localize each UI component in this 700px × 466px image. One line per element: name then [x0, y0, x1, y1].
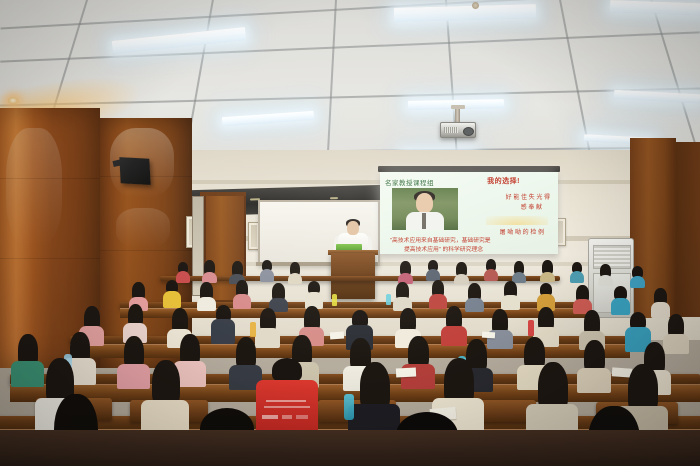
water-bottle: [528, 320, 534, 336]
slide-line-1: 好 能 佳 失 光 得: [506, 192, 550, 201]
red-event-tshirt: [256, 380, 318, 436]
water-bottle: [386, 294, 391, 305]
tshirt-print-logo: [282, 415, 292, 419]
tshirt-print-line-1: [266, 400, 306, 402]
wall-light-fixture: [8, 97, 18, 104]
slide-line-3: 屠 呦 呦 的 检 例: [500, 227, 544, 236]
projector-mount-plate: [451, 105, 465, 109]
portrait-face: [416, 193, 433, 213]
ceiling-light-fixture: [394, 4, 536, 22]
notebook: [482, 332, 495, 339]
desk-row: [160, 276, 560, 281]
slide-title-right: 我的选择!: [487, 176, 520, 186]
ceiling-light-fixture: [614, 90, 700, 103]
smoke-detector-icon: [472, 2, 479, 9]
tshirt-print-logo: [296, 415, 308, 419]
slide-decorative-swoosh: [486, 216, 548, 225]
tshirt-print-logo: [262, 415, 278, 419]
notebook: [330, 332, 344, 340]
presenter-head: [347, 221, 359, 235]
notebook: [396, 367, 416, 377]
water-bottle: [344, 394, 354, 420]
projector-lens-icon: [463, 127, 474, 136]
ceiling-light-fixture: [610, 0, 700, 16]
slide-quote-line-1: "高技术应用来自基础研究，基础研究是: [390, 235, 491, 244]
lecture-hall-photo: 名家教授课程组 我的选择! 好 能 佳 失 光 得 感 奉 献 屠 呦 呦 的 …: [0, 0, 700, 466]
water-bottle: [332, 294, 337, 306]
tshirt-print-line-2: [264, 406, 310, 408]
ceiling-mounted-projector: [440, 122, 476, 138]
slide-portrait-photo: [392, 188, 458, 230]
projection-screen: 名家教授课程组 我的选择! 好 能 佳 失 光 得 感 奉 献 屠 呦 呦 的 …: [380, 172, 558, 254]
wall-speaker-icon: [119, 157, 150, 185]
slide-line-2: 感 奉 献: [521, 202, 542, 211]
ceiling-light-fixture: [112, 27, 247, 54]
floor: [0, 430, 700, 466]
portrait-tie: [422, 213, 426, 229]
ceiling-light-fixture: [222, 111, 314, 126]
slide-title-left: 名家教授课程组: [385, 177, 434, 187]
slide-quote-line-2: 提高技术应用" 的科学研究理念: [404, 244, 483, 253]
water-bottle: [250, 322, 256, 337]
